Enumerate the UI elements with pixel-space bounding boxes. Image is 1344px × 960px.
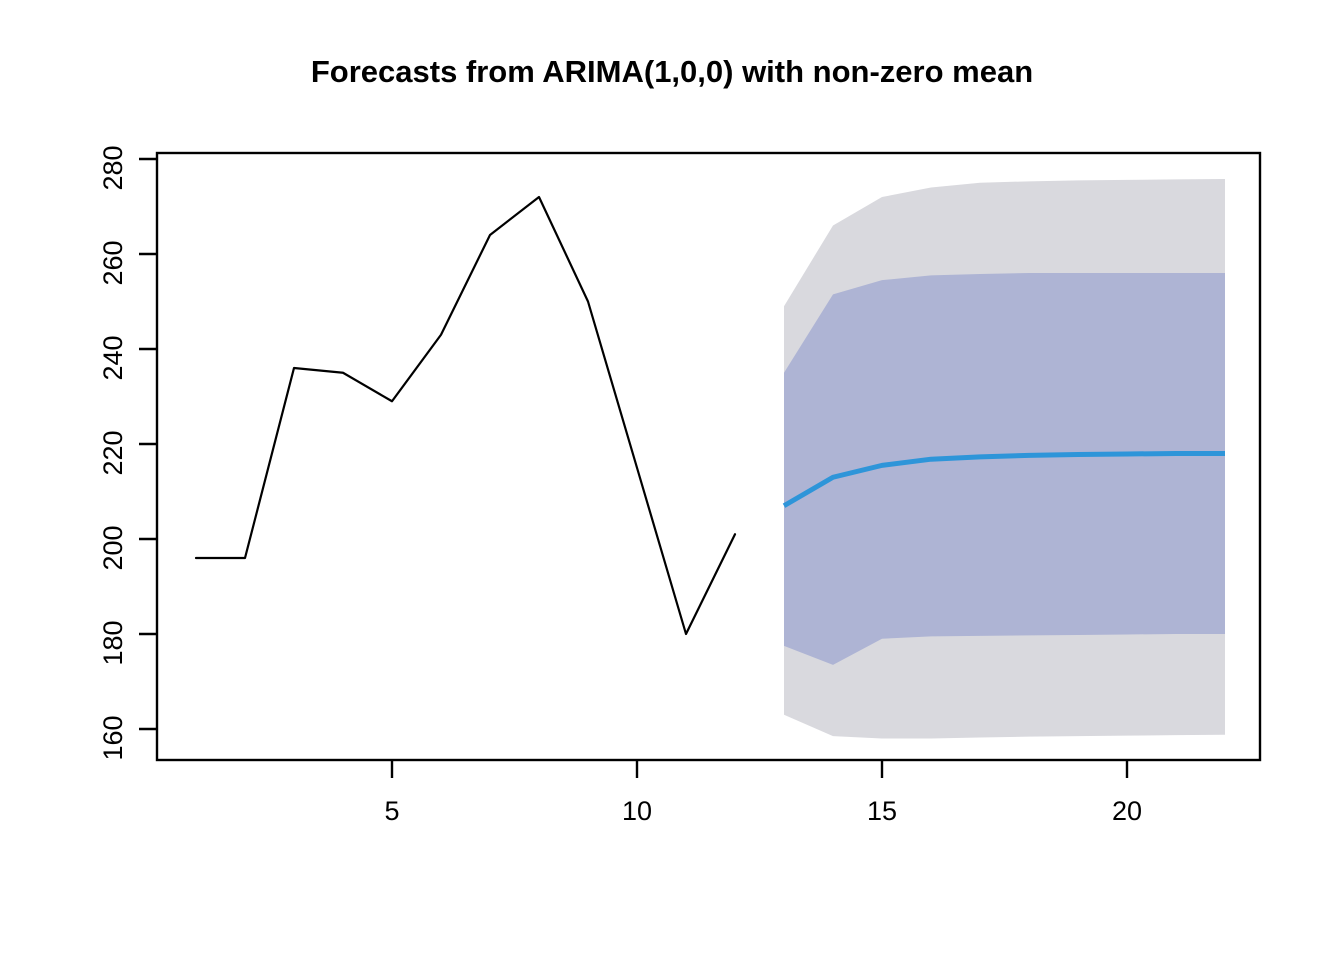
y-axis-tick-label: 240 — [98, 335, 128, 380]
x-axis-labels-group: 5101520 — [384, 796, 1142, 826]
y-axis-tick-label: 200 — [98, 525, 128, 570]
forecast-plot-page: Forecasts from ARIMA(1,0,0) with non-zer… — [0, 0, 1344, 960]
y-axis-labels-group: 160180200220240260280 — [98, 145, 128, 760]
y-axis-tick-label: 220 — [98, 430, 128, 475]
x-axis-tick-label: 10 — [622, 796, 652, 826]
y-axis-tick-label: 280 — [98, 145, 128, 190]
forecast-chart-svg: 160180200220240260280 5101520 — [0, 0, 1344, 960]
x-axis-tick-label: 20 — [1112, 796, 1142, 826]
y-axis-tick-label: 180 — [98, 620, 128, 665]
chart-canvas: 160180200220240260280 5101520 — [0, 0, 1344, 960]
prediction-band-80-group — [784, 273, 1225, 665]
prediction-band-80 — [784, 273, 1225, 665]
x-axis-tick-label: 15 — [867, 796, 897, 826]
history-series-group — [196, 197, 735, 634]
x-axis-tick-label: 5 — [384, 796, 399, 826]
y-axis-tick-label: 160 — [98, 715, 128, 760]
history-line — [196, 197, 735, 634]
y-axis-tick-label: 260 — [98, 240, 128, 285]
